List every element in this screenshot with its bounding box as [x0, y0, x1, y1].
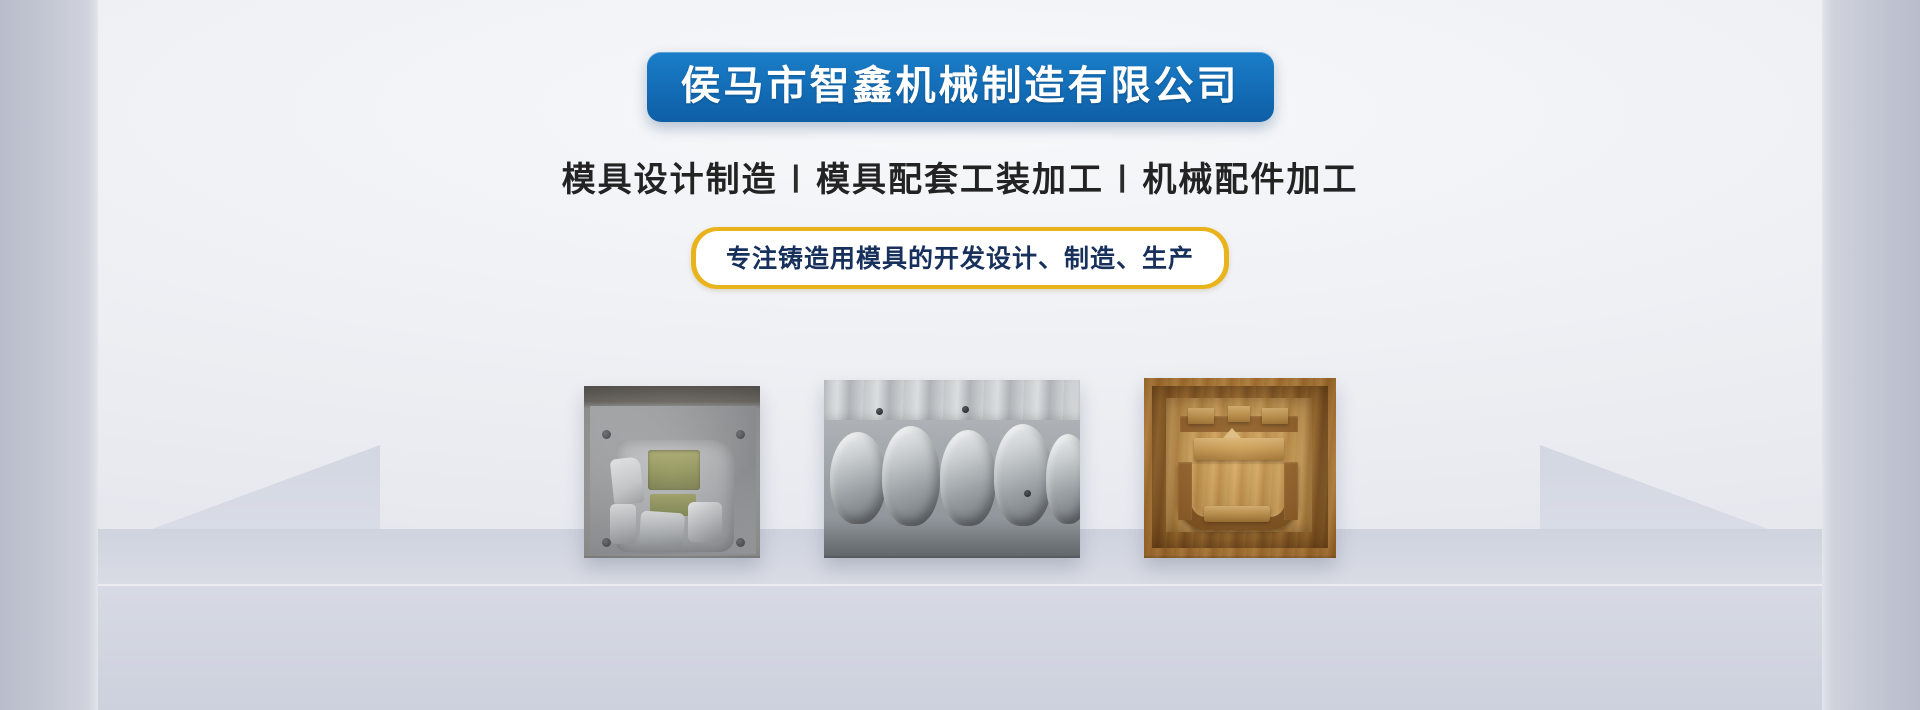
company-name-badge: 侯马市智鑫机械制造有限公司 [647, 52, 1274, 122]
background-floor-seam [0, 584, 1920, 586]
company-name: 侯马市智鑫机械制造有限公司 [681, 66, 1240, 106]
product-photo-steel-mold [824, 380, 1080, 558]
service-separator-2: | [1118, 160, 1128, 194]
photo2-cavity-5 [1046, 434, 1080, 524]
tagline-frame: 专注铸造用模具的开发设计、制造、生产 [691, 227, 1229, 289]
product-photo-aluminum-mold [584, 386, 760, 558]
background-floor-riser [0, 584, 1920, 710]
tagline-text: 专注铸造用模具的开发设计、制造、生产 [696, 231, 1224, 285]
photo2-cavity-4 [994, 424, 1052, 526]
services-line: 模具设计制造 | 模具配套工装加工 | 机械配件加工 [562, 152, 1359, 201]
photo2-top-rail [824, 380, 1080, 424]
photo2-cavity-1 [830, 432, 886, 524]
photo2-bottom-shadow [824, 518, 1080, 558]
product-gallery [0, 378, 1920, 558]
photo2-bolt-hole-3 [1024, 490, 1031, 497]
service-item-3: 机械配件加工 [1142, 152, 1358, 201]
photo2-bolt-hole-1 [876, 408, 883, 415]
service-item-2: 模具配套工装加工 [816, 152, 1104, 201]
product-photo-wooden-pattern [1144, 378, 1336, 558]
service-item-1: 模具设计制造 [562, 152, 778, 201]
hero-content: 侯马市智鑫机械制造有限公司 模具设计制造 | 模具配套工装加工 | 机械配件加工… [0, 0, 1920, 289]
photo3-vignette [1144, 378, 1336, 558]
service-separator-1: | [792, 160, 802, 194]
photo1-vignette [584, 386, 760, 558]
photo2-cavity-2 [882, 426, 940, 526]
photo2-cavity-3 [940, 430, 996, 526]
photo2-bolt-hole-2 [962, 406, 969, 413]
company-hero-banner: 侯马市智鑫机械制造有限公司 模具设计制造 | 模具配套工装加工 | 机械配件加工… [0, 0, 1920, 710]
